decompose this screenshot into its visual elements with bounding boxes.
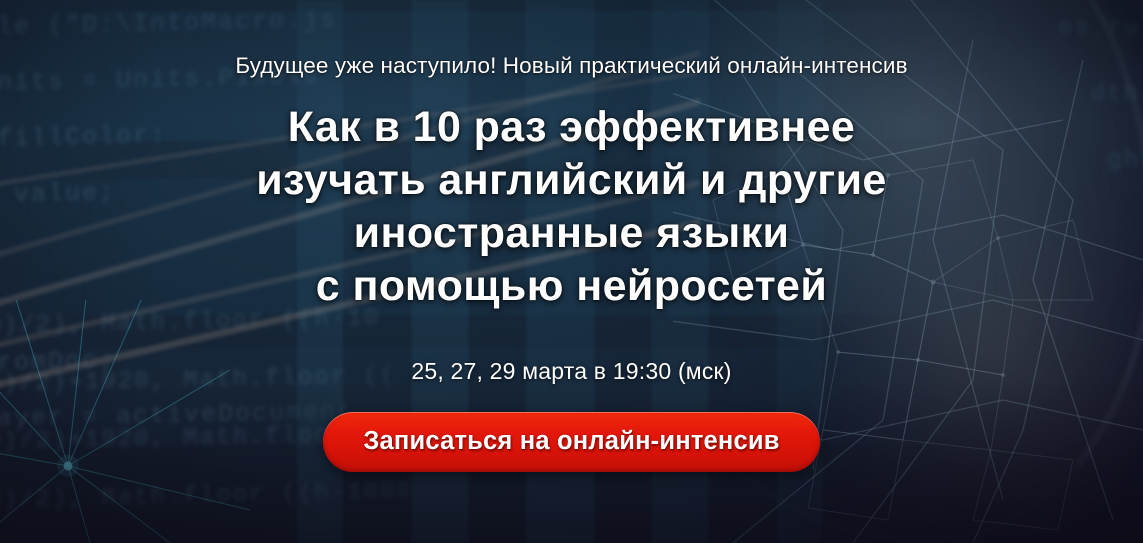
event-date-text: 25, 27, 29 марта в 19:30 (мск)	[411, 358, 731, 385]
headline-line-3: иностранные языки	[256, 207, 886, 260]
hero-eyebrow: Будущее уже наступило! Новый практически…	[235, 53, 907, 79]
hero-content: Будущее уже наступило! Новый практически…	[0, 0, 1143, 543]
hero-headline: Как в 10 раз эффективнее изучать английс…	[256, 101, 886, 313]
cta-container: Записаться на онлайн-интенсив	[323, 412, 819, 472]
hero-banner: ile ("D:\IntoMacro.js units = Units.Pixe…	[0, 0, 1143, 543]
headline-line-4: с помощью нейросетей	[256, 260, 886, 313]
headline-line-2: изучать английский и другие	[256, 154, 886, 207]
headline-line-1: Как в 10 раз эффективнее	[256, 101, 886, 154]
signup-button[interactable]: Записаться на онлайн-интенсив	[323, 412, 819, 472]
